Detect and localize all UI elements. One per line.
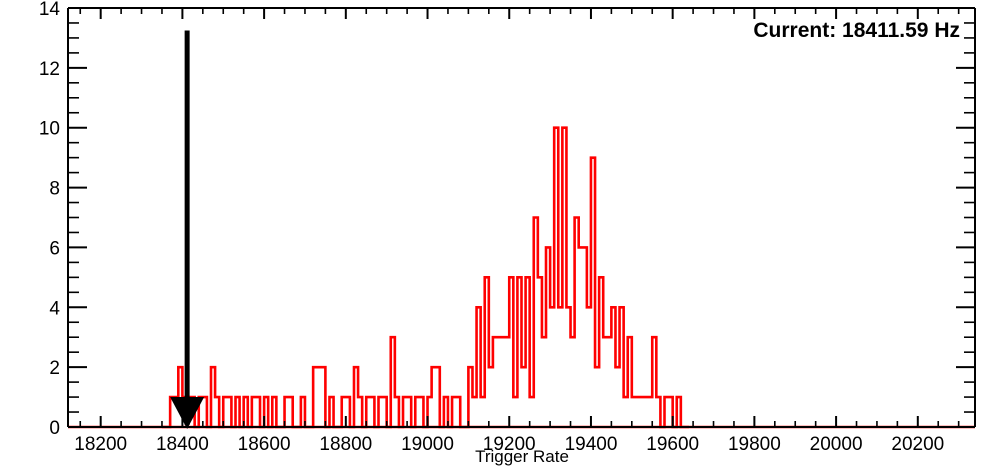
y-tick-label: 14 <box>39 0 61 20</box>
plot-background <box>0 0 996 472</box>
y-tick-label: 8 <box>49 179 60 200</box>
x-tick-label: 20200 <box>891 434 944 455</box>
x-tick-label: 19800 <box>728 434 781 455</box>
current-rate-status: Current: 18411.59 Hz <box>753 19 960 42</box>
x-axis-title: Trigger Rate <box>475 447 569 466</box>
x-tick-label: 18400 <box>156 434 209 455</box>
histogram-canvas: 1820018400186001880019000192001940019600… <box>0 0 996 472</box>
y-tick-label: 4 <box>49 298 60 319</box>
x-tick-label: 18800 <box>319 434 372 455</box>
x-tick-label: 18200 <box>74 434 127 455</box>
y-tick-label: 2 <box>49 358 60 379</box>
x-tick-label: 19400 <box>565 434 618 455</box>
x-tick-label: 19000 <box>401 434 454 455</box>
x-tick-label: 18600 <box>238 434 291 455</box>
x-tick-label: 20000 <box>810 434 863 455</box>
x-tick-label: 19600 <box>646 434 699 455</box>
y-tick-label: 0 <box>49 418 60 439</box>
trigger-rate-histogram: 1820018400186001880019000192001940019600… <box>0 0 996 472</box>
y-tick-label: 6 <box>49 238 60 259</box>
y-tick-label: 10 <box>39 119 60 140</box>
y-tick-label: 12 <box>39 59 60 80</box>
